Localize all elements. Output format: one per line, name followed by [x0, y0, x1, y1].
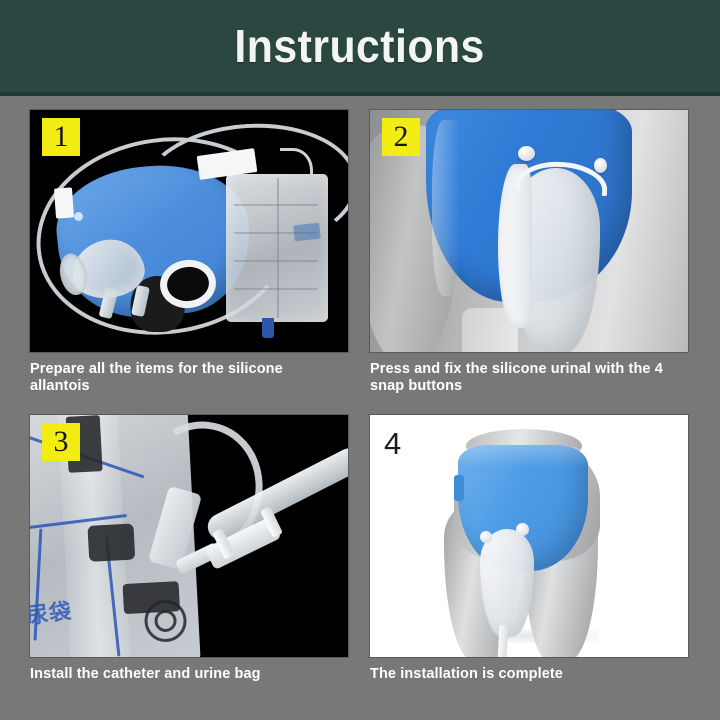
step-1: 1 Prepare all the items for the silicone…: [30, 110, 348, 395]
step-3-photo: 尿袋 3: [30, 415, 348, 657]
snap-button-2: [516, 523, 529, 536]
step-2-caption: Press and fix the silicone urinal with t…: [370, 361, 676, 395]
bag-blue-marking: [293, 223, 321, 242]
urine-collection-bag: [226, 174, 328, 322]
step-3-badge: 3: [42, 423, 80, 461]
brief-waistband: [458, 445, 588, 467]
header-banner: Instructions: [0, 0, 720, 92]
step-1-photo: 1: [30, 110, 348, 352]
bag-seam: [277, 178, 279, 318]
step-4-caption: The installation is complete: [370, 666, 676, 683]
urinal-drain-tube: [497, 625, 509, 657]
step-2: 2 Press and fix the silicone urinal with…: [370, 110, 688, 395]
bag-graduation-line: [234, 288, 318, 290]
step-1-badge: 1: [42, 118, 80, 156]
silicone-urinal-cup: [480, 529, 534, 637]
infographic-page: Instructions: [0, 0, 720, 720]
step-4-badge: 4: [384, 425, 422, 463]
header-underline: [0, 92, 720, 96]
snap-button-2: [594, 158, 607, 173]
bag-graduation-line: [234, 260, 318, 262]
bag-graduation-line: [234, 204, 318, 206]
bag-label-text: 尿袋: [30, 593, 74, 630]
silicone-urinal-cup: [508, 168, 600, 352]
brief-side-tab: [454, 475, 464, 501]
step-3-caption: Install the catheter and urine bag: [30, 666, 336, 683]
snap-button: [74, 212, 83, 221]
step-2-badge: 2: [382, 118, 420, 156]
step-1-caption: Prepare all the items for the silicone a…: [30, 361, 336, 395]
bag-spiral-graphic: [143, 599, 187, 643]
step-3: 尿袋 3 Install the catheter and urine bag: [30, 415, 348, 683]
step-2-photo: 2: [370, 110, 688, 352]
brief-edge-highlight: [432, 120, 460, 296]
bag-print-block: [87, 523, 135, 561]
step-4: 4 The installation is complete: [370, 415, 688, 683]
bag-drain-outlet: [262, 318, 274, 338]
snap-button-1: [518, 146, 535, 161]
label-tag-secondary: [54, 187, 74, 218]
page-title: Instructions: [235, 19, 485, 73]
step-4-photo: 4: [370, 415, 688, 657]
snap-button-1: [480, 531, 492, 543]
steps-grid: 1 Prepare all the items for the silicone…: [30, 110, 686, 700]
